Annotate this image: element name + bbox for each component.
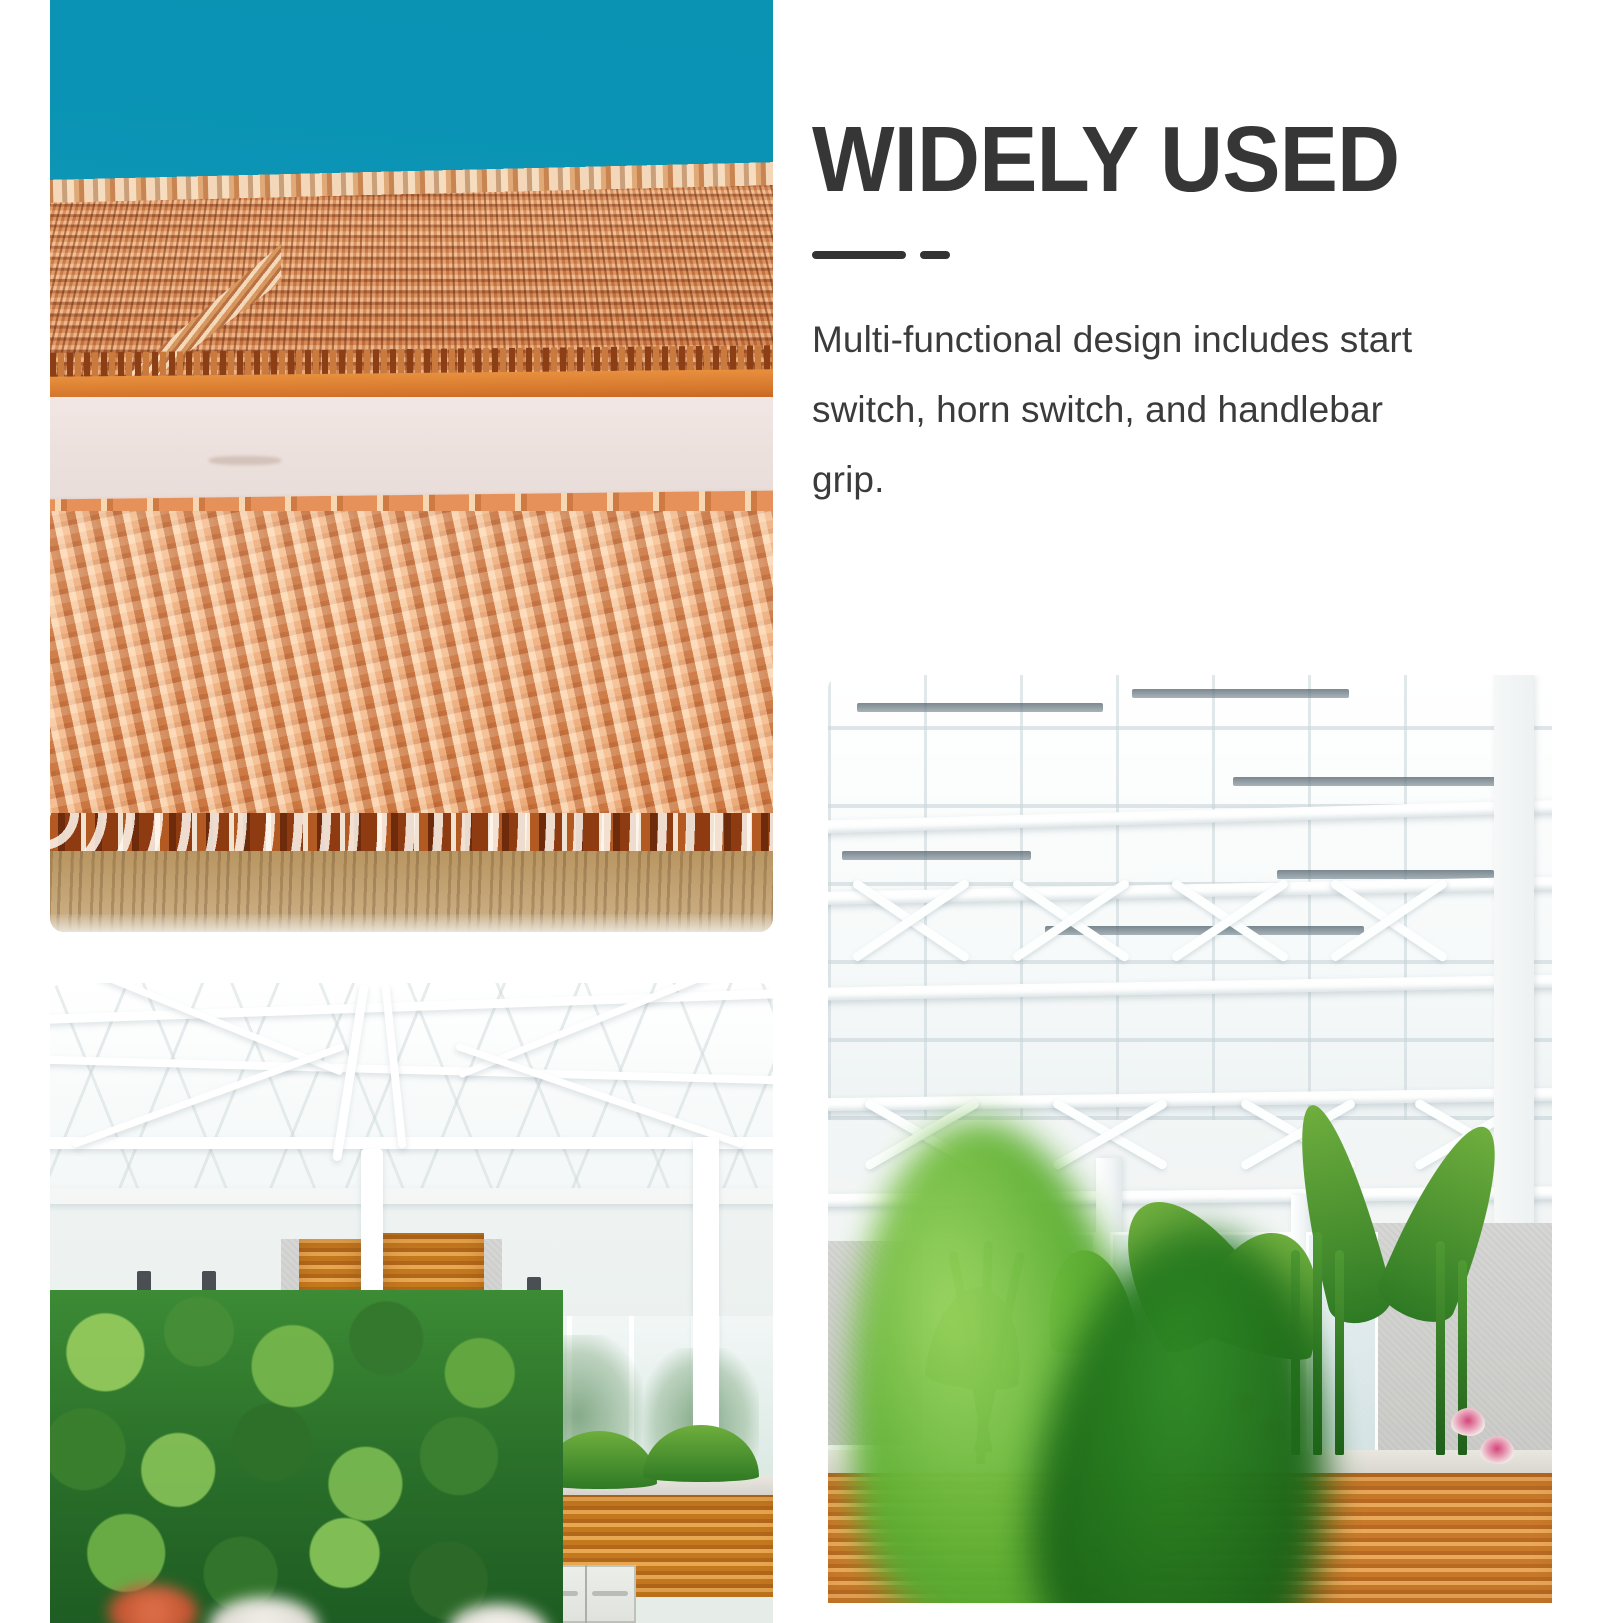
page-title: WIDELY USED (812, 112, 1470, 207)
white-truss-atrium-photo (828, 675, 1552, 1603)
snake-plant-blade (1335, 1250, 1344, 1454)
ceiling-band (50, 1188, 773, 1204)
caladium-leaf (1480, 1436, 1514, 1464)
vertical-living-wall (50, 1290, 563, 1623)
terracotta-roof-photo (50, 0, 773, 932)
roof-glazing-slot (842, 851, 1030, 860)
snake-plant-blade (1436, 1241, 1445, 1454)
divider-dash-long (812, 251, 906, 259)
greenhouse-living-wall-photo (50, 983, 773, 1623)
caladium-leaf (1451, 1408, 1485, 1436)
door-push-bar (592, 1591, 628, 1596)
feature-description: Multi-functional design includes start s… (812, 305, 1432, 516)
weathered-base-wall (50, 851, 773, 932)
roof-beam (50, 1137, 773, 1149)
roof-glazing-slot (857, 703, 1103, 712)
roof-glazing-slot (1233, 777, 1523, 786)
divider-dash-short (920, 251, 950, 259)
feature-text-panel: WIDELY USED Multi-functional design incl… (812, 112, 1512, 516)
roof-glazing-slot (1132, 689, 1349, 698)
title-divider (812, 251, 1512, 259)
